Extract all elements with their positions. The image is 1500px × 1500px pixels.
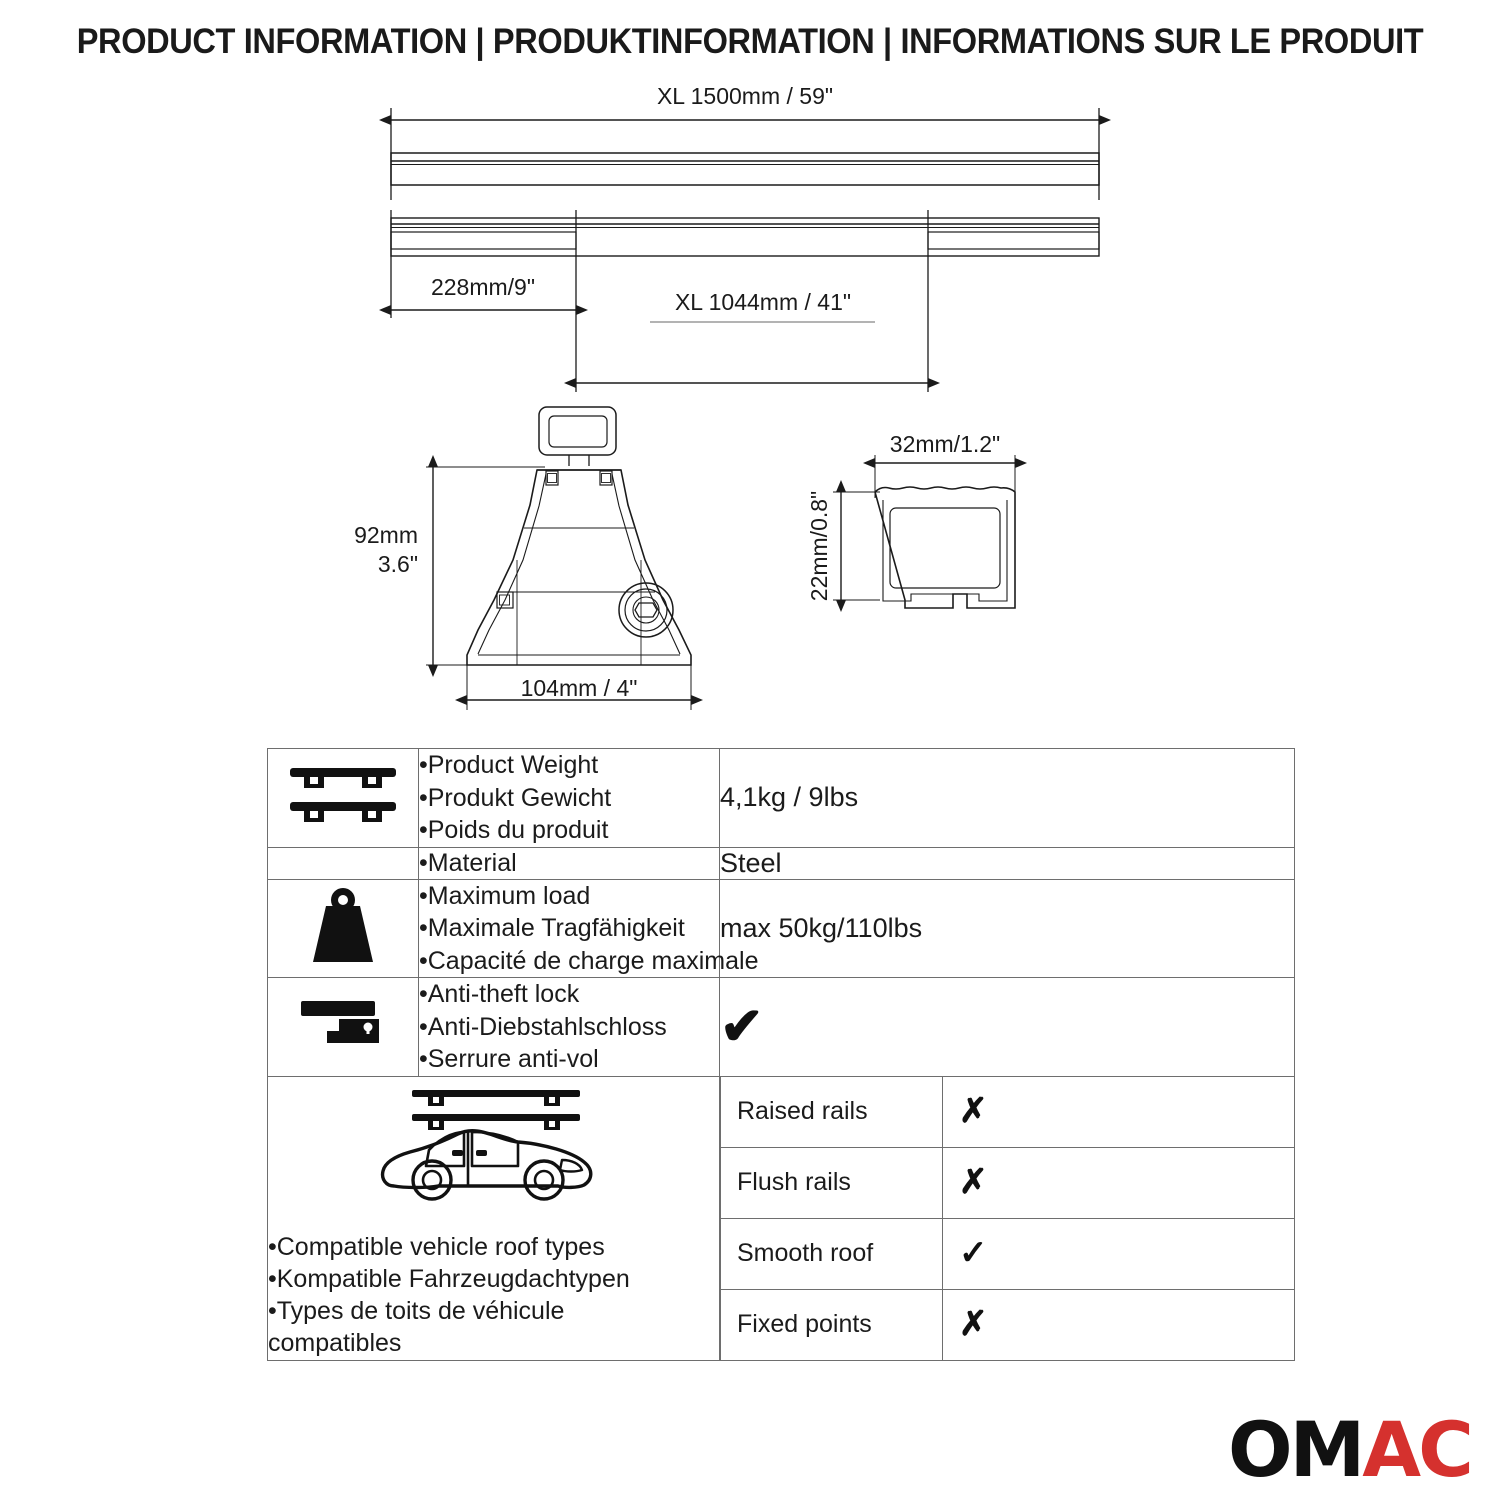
lock-icon <box>293 1042 393 1059</box>
technical-drawings: XL 1500mm / 59" 228mm/9" XL 1044mm / 41"… <box>0 0 1500 745</box>
roof-type-name: Fixed points <box>721 1289 943 1360</box>
foot-offset-dimension-label: 228mm/9" <box>431 274 535 300</box>
label-line: •Anti-theft lock <box>419 978 719 1011</box>
car-with-roof-rack-icon <box>268 1082 719 1217</box>
omac-logo: OMAC <box>1228 1412 1471 1488</box>
cross-mark-icon: ✗ <box>959 1305 988 1343</box>
table-row: •Material Steel <box>268 847 1295 879</box>
profile-height-dimension-label: 22mm/0.8" <box>806 491 832 601</box>
material-value: Steel <box>720 847 1295 879</box>
max-load-value: max 50kg/110lbs <box>720 879 1295 978</box>
roof-type-support: ✓ <box>943 1218 1295 1289</box>
label-line: •Produkt Gewicht <box>419 782 719 815</box>
product-weight-labels: •Product Weight •Produkt Gewicht •Poids … <box>419 749 720 848</box>
label-line: •Compatible vehicle roof types <box>268 1231 719 1263</box>
label-line: •Types de toits de véhicule <box>268 1295 719 1327</box>
material-label: •Material <box>419 847 720 879</box>
check-mark-icon: ✓ <box>959 1234 988 1272</box>
list-item: Fixed points ✗ <box>721 1289 1295 1360</box>
roof-type-name: Raised rails <box>721 1077 943 1148</box>
weight-icon <box>303 955 383 972</box>
cross-mark-icon: ✗ <box>959 1163 988 1201</box>
logo-text-dark: OM <box>1228 1405 1362 1494</box>
roof-types-description: •Compatible vehicle roof types •Kompatib… <box>268 1076 720 1360</box>
label-line: •Anti-Diebstahlschloss <box>419 1011 719 1044</box>
label-line: •Poids du produit <box>419 814 719 847</box>
label-line: •Kompatible Fahrzeugdachtypen <box>268 1263 719 1295</box>
logo-text-red: AC <box>1362 1405 1471 1494</box>
label-line: •Capacité de charge maximale <box>419 945 719 978</box>
roof-type-name: Flush rails <box>721 1147 943 1218</box>
specification-table: •Product Weight •Produkt Gewicht •Poids … <box>267 748 1295 1361</box>
table-row: •Compatible vehicle roof types •Kompatib… <box>268 1076 1295 1360</box>
roof-type-name: Smooth roof <box>721 1218 943 1289</box>
anti-theft-value: ✔ <box>720 978 1295 1077</box>
bar-length-dimension-label: XL 1500mm / 59" <box>657 83 833 109</box>
product-weight-value: 4,1kg / 9lbs <box>720 749 1295 848</box>
material-icon-cell <box>268 847 419 879</box>
label-line: •Serrure anti-vol <box>419 1043 719 1076</box>
foot-span-dimension-label: XL 1044mm / 41" <box>675 289 851 315</box>
list-item: Raised rails ✗ <box>721 1077 1295 1148</box>
max-load-labels: •Maximum load •Maximale Tragfähigkeit •C… <box>419 879 720 978</box>
lock-icon-cell <box>268 978 419 1077</box>
table-row: •Maximum load •Maximale Tragfähigkeit •C… <box>268 879 1295 978</box>
crossbars-icon-cell <box>268 749 419 848</box>
roof-types-matrix: Raised rails ✗ Flush rails ✗ <box>720 1077 1294 1360</box>
label-line: •Product Weight <box>419 749 719 782</box>
roof-type-support: ✗ <box>943 1147 1295 1218</box>
label-line: •Maximum load <box>419 880 719 913</box>
crossbars-icon <box>284 817 402 834</box>
roof-type-support: ✗ <box>943 1077 1295 1148</box>
profile-width-dimension-label: 32mm/1.2" <box>890 431 1000 457</box>
list-item: Smooth roof ✓ <box>721 1218 1295 1289</box>
foot-height-label-mm: 92mm <box>354 522 418 548</box>
cross-mark-icon: ✗ <box>959 1092 988 1130</box>
roof-type-support: ✗ <box>943 1289 1295 1360</box>
label-line: compatibles <box>268 1327 719 1359</box>
table-row: •Anti-theft lock •Anti-Diebstahlschloss … <box>268 978 1295 1077</box>
table-row: •Product Weight •Produkt Gewicht •Poids … <box>268 749 1295 848</box>
anti-theft-labels: •Anti-theft lock •Anti-Diebstahlschloss … <box>419 978 720 1077</box>
list-item: Flush rails ✗ <box>721 1147 1295 1218</box>
label-line: •Maximale Tragfähigkeit <box>419 912 719 945</box>
check-mark-icon: ✔ <box>720 998 764 1056</box>
weight-icon-cell <box>268 879 419 978</box>
roof-types-matrix-cell: Raised rails ✗ Flush rails ✗ <box>720 1076 1295 1360</box>
foot-width-dimension-label: 104mm / 4" <box>521 675 638 701</box>
foot-height-label-inch: 3.6" <box>378 551 418 577</box>
